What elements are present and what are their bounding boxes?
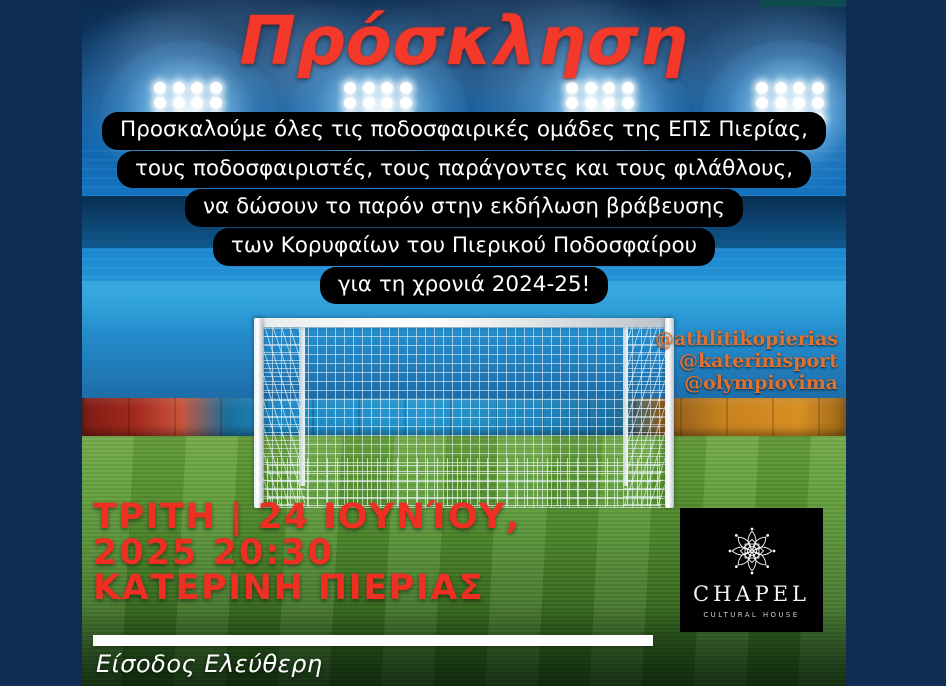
sponsor-name: CHAPEL — [693, 584, 810, 605]
social-handle[interactable]: @katerinisport — [82, 350, 838, 372]
divider-line — [93, 635, 653, 646]
poster-artwork: Πρόσκληση Προσκαλούμε όλες τις ποδοσφαιρ… — [82, 0, 846, 686]
invitation-line: Προσκαλούμε όλες τις ποδοσφαιρικές ομάδε… — [102, 112, 826, 150]
right-navy-rail — [846, 0, 946, 686]
event-venue: ΚΑΤΕΡΙΝΗ ΠΙΕΡΙΑΣ — [93, 571, 693, 607]
invitation-line: τους ποδοσφαιριστές, τους παράγοντες και… — [117, 151, 811, 189]
event-date-line-1: ΤΡΙΤΗ | 24 ΙΟΥΝΊΟΥ, — [93, 500, 693, 536]
sponsor-tagline: CULTURAL HOUSE — [703, 611, 799, 619]
free-entry-note: Είσοδος Ελεύθερη — [96, 650, 323, 678]
mandala-flower-icon — [723, 522, 781, 580]
social-handles: @athlitikopierias @katerinisport @olympi… — [82, 328, 846, 394]
event-date-line-2: 2025 20:30 — [93, 536, 693, 572]
social-handle[interactable]: @olympiovima — [82, 372, 838, 394]
invitation-line: να δώσουν το παρόν στην εκδήλωση βράβευσ… — [185, 189, 743, 227]
poster-canvas: Πρόσκληση Προσκαλούμε όλες τις ποδοσφαιρ… — [0, 0, 946, 686]
top-teal-strip — [760, 0, 846, 7]
invitation-text-block: Προσκαλούμε όλες τις ποδοσφαιρικές ομάδε… — [82, 112, 846, 305]
poster-title: Πρόσκληση — [82, 8, 846, 75]
left-navy-rail — [0, 0, 82, 686]
sponsor-logo-chapel: CHAPEL CULTURAL HOUSE — [680, 508, 823, 632]
social-handle[interactable]: @athlitikopierias — [82, 328, 838, 350]
event-date-venue: ΤΡΙΤΗ | 24 ΙΟΥΝΊΟΥ, 2025 20:30 ΚΑΤΕΡΙΝΗ … — [93, 500, 693, 607]
goal-crossbar — [254, 318, 674, 327]
invitation-line: για τη χρονιά 2024-25! — [320, 267, 608, 305]
invitation-line: των Κορυφαίων του Πιερικού Ποδοσφαίρου — [213, 228, 715, 266]
